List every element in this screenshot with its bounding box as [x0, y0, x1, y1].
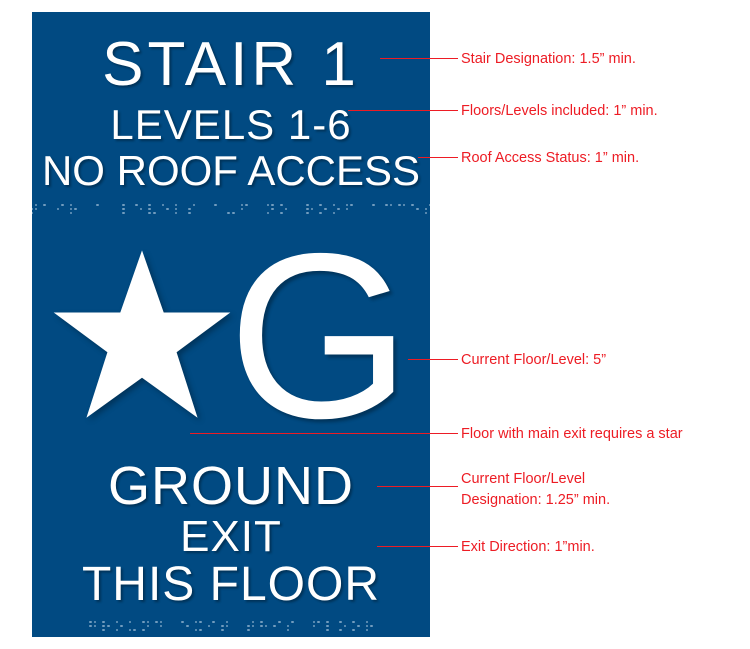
sign-hero-row: G [32, 242, 430, 437]
annotation-exit-direction: Exit Direction: 1”min. [461, 538, 595, 558]
sign-ground-text: GROUND [108, 459, 354, 513]
sign-current-floor-letter: G [228, 218, 411, 453]
leader-line-roof-access [418, 157, 458, 158]
annotation-star-note: Floor with main exit requires a star [461, 425, 683, 445]
sign-stair-designation-text: STAIR 1 [102, 34, 360, 96]
leader-line-floors-levels [348, 110, 458, 111]
annotated-sign-diagram: STAIR 1 LEVELS 1-6 NO ROOF ACCESS G GROU… [0, 0, 750, 649]
leader-line-exit-direction [377, 546, 458, 547]
annotation-stair-designation: Stair Designation: 1.5” min. [461, 50, 636, 70]
sign-levels-text: LEVELS 1-6 [110, 104, 351, 146]
leader-line-stair-designation [380, 58, 458, 59]
annotation-floor-designation-line1: Current Floor/Level [461, 470, 585, 490]
annotation-floor-designation-line2: Designation: 1.25” min. [461, 491, 610, 511]
braille-row-bottom [89, 619, 373, 633]
leader-line-current-floor [408, 359, 458, 360]
leader-line-star-note [190, 433, 458, 434]
star-icon [50, 242, 234, 428]
annotation-roof-access: Roof Access Status: 1” min. [461, 149, 639, 169]
annotation-current-floor: Current Floor/Level: 5” [461, 351, 606, 371]
stairwell-sign-panel: STAIR 1 LEVELS 1-6 NO ROOF ACCESS G GROU… [32, 12, 430, 637]
leader-line-floor-designation [377, 486, 458, 487]
annotation-floors-levels: Floors/Levels included: 1” min. [461, 102, 658, 122]
sign-roof-access-text: NO ROOF ACCESS [42, 150, 420, 192]
sign-exit-text: EXIT [180, 515, 282, 559]
sign-this-floor-text: THIS FLOOR [82, 561, 380, 609]
